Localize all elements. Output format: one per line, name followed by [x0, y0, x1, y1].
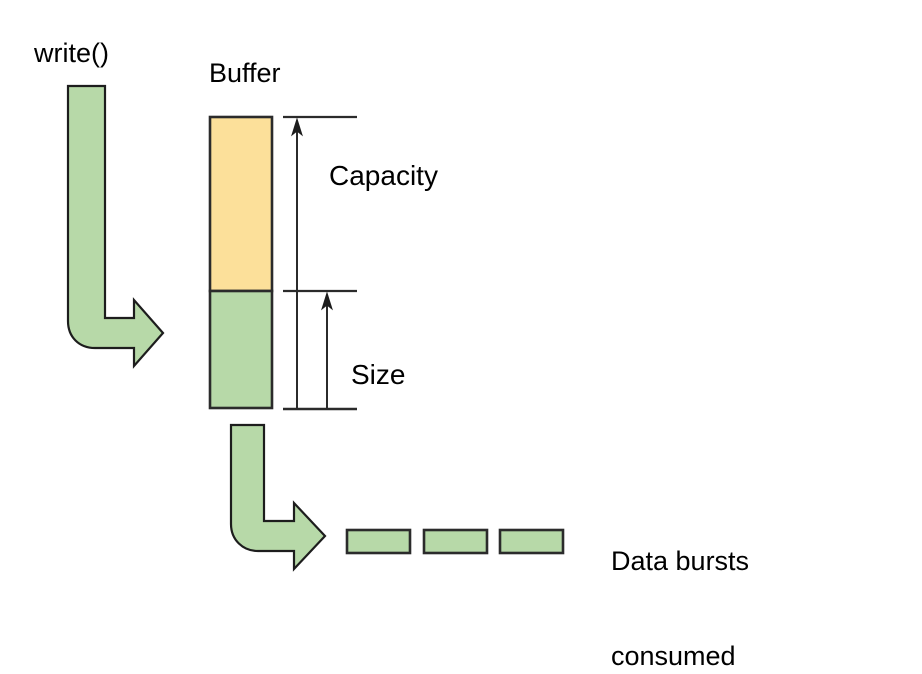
burst-block	[500, 530, 563, 553]
data-bursts-caption-line-2: consumed	[611, 641, 749, 673]
burst-block	[424, 530, 487, 553]
buffer-free-segment	[210, 117, 272, 291]
consume-arrow[interactable]	[231, 425, 325, 569]
diagram-graphics	[0, 0, 922, 674]
capacity-dimension-label: Capacity	[329, 159, 438, 192]
write-call-label: write()	[34, 38, 109, 70]
data-bursts-caption-line-1: Data bursts	[611, 546, 749, 578]
size-dimension-label: Size	[351, 358, 405, 391]
diagram-canvas: write() Buffer Capacity Size Data bursts…	[0, 0, 922, 674]
data-bursts-caption: Data bursts consumed by device	[611, 482, 749, 674]
write-arrow[interactable]	[68, 86, 163, 366]
burst-block	[347, 530, 410, 553]
buffer-title-label: Buffer	[209, 58, 281, 90]
buffer-used-segment	[210, 291, 272, 408]
